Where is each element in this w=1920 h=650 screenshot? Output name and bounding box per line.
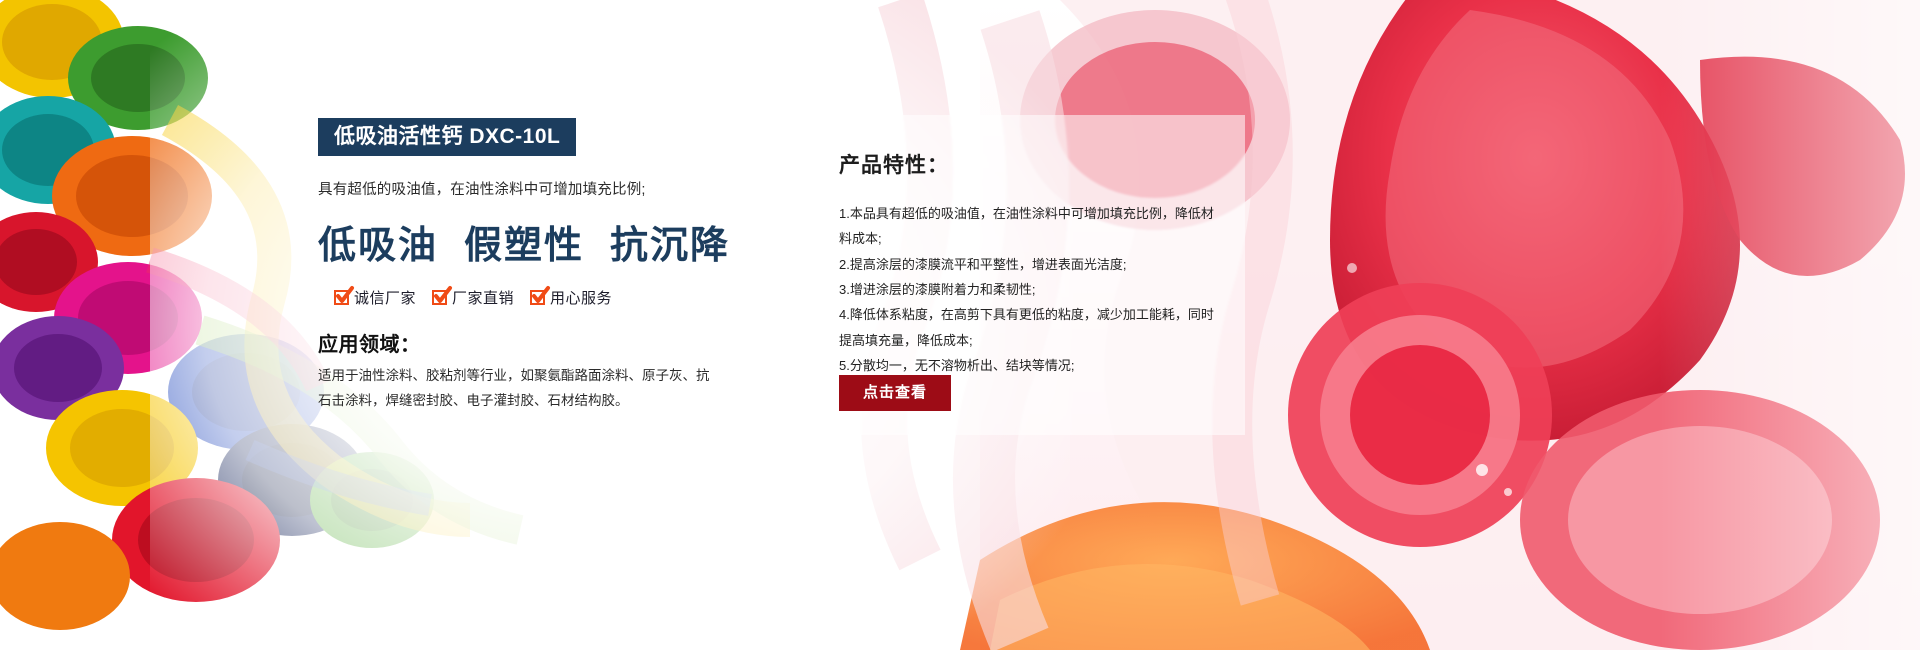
trust-badge-label-1: 诚信厂家 bbox=[354, 287, 416, 308]
view-details-button[interactable]: 点击查看 bbox=[839, 375, 951, 411]
trust-badge-3: 用心服务 bbox=[530, 287, 612, 308]
application-body-text: 适用于油性涂料、胶粘剂等行业，如聚氨酯路面涂料、原子灰、抗石击涂料，焊缝密封胶、… bbox=[318, 364, 710, 414]
slogan-row: 低吸油 假塑性 抗沉降 bbox=[318, 214, 718, 269]
features-panel-title: 产品特性： bbox=[839, 149, 1215, 179]
product-lede-text: 具有超低的吸油值，在油性涂料中可增加填充比例; bbox=[318, 178, 718, 199]
check-box-icon bbox=[530, 290, 545, 305]
slogan-item-3: 抗沉降 bbox=[610, 214, 730, 269]
feature-item-4: 4.降低体系粘度，在高剪下具有更低的粘度，减少加工能耗，同时提高填充量，降低成本… bbox=[839, 302, 1214, 353]
feature-item-3: 3.增进涂层的漆膜附着力和柔韧性; bbox=[839, 277, 1214, 302]
product-copy-block: 低吸油活性钙 DXC-10L 具有超低的吸油值，在油性涂料中可增加填充比例; 低… bbox=[318, 118, 718, 414]
trust-badge-label-3: 用心服务 bbox=[550, 287, 612, 308]
feature-item-1: 1.本品具有超低的吸油值，在油性涂料中可增加填充比例，降低材料成本; bbox=[839, 201, 1214, 252]
product-hero-banner: 低吸油活性钙 DXC-10L 具有超低的吸油值，在油性涂料中可增加填充比例; 低… bbox=[0, 0, 1920, 650]
product-features-panel: 产品特性： 1.本品具有超低的吸油值，在油性涂料中可增加填充比例，降低材料成本;… bbox=[805, 115, 1245, 435]
application-heading: 应用领域： bbox=[318, 328, 718, 357]
check-box-icon bbox=[334, 290, 349, 305]
trust-badge-label-2: 厂家直销 bbox=[452, 287, 514, 308]
trust-badge-2: 厂家直销 bbox=[432, 287, 514, 308]
feature-item-2: 2.提高涂层的漆膜流平和平整性，增进表面光洁度; bbox=[839, 252, 1214, 277]
trust-badge-1: 诚信厂家 bbox=[334, 287, 416, 308]
feature-list: 1.本品具有超低的吸油值，在油性涂料中可增加填充比例，降低材料成本; 2.提高涂… bbox=[839, 201, 1214, 378]
slogan-item-1: 低吸油 bbox=[318, 214, 438, 269]
product-title-chip: 低吸油活性钙 DXC-10L bbox=[318, 118, 576, 156]
trust-badge-row: 诚信厂家 厂家直销 用心服务 bbox=[318, 287, 718, 308]
check-box-icon bbox=[432, 290, 447, 305]
slogan-item-2: 假塑性 bbox=[464, 214, 584, 269]
